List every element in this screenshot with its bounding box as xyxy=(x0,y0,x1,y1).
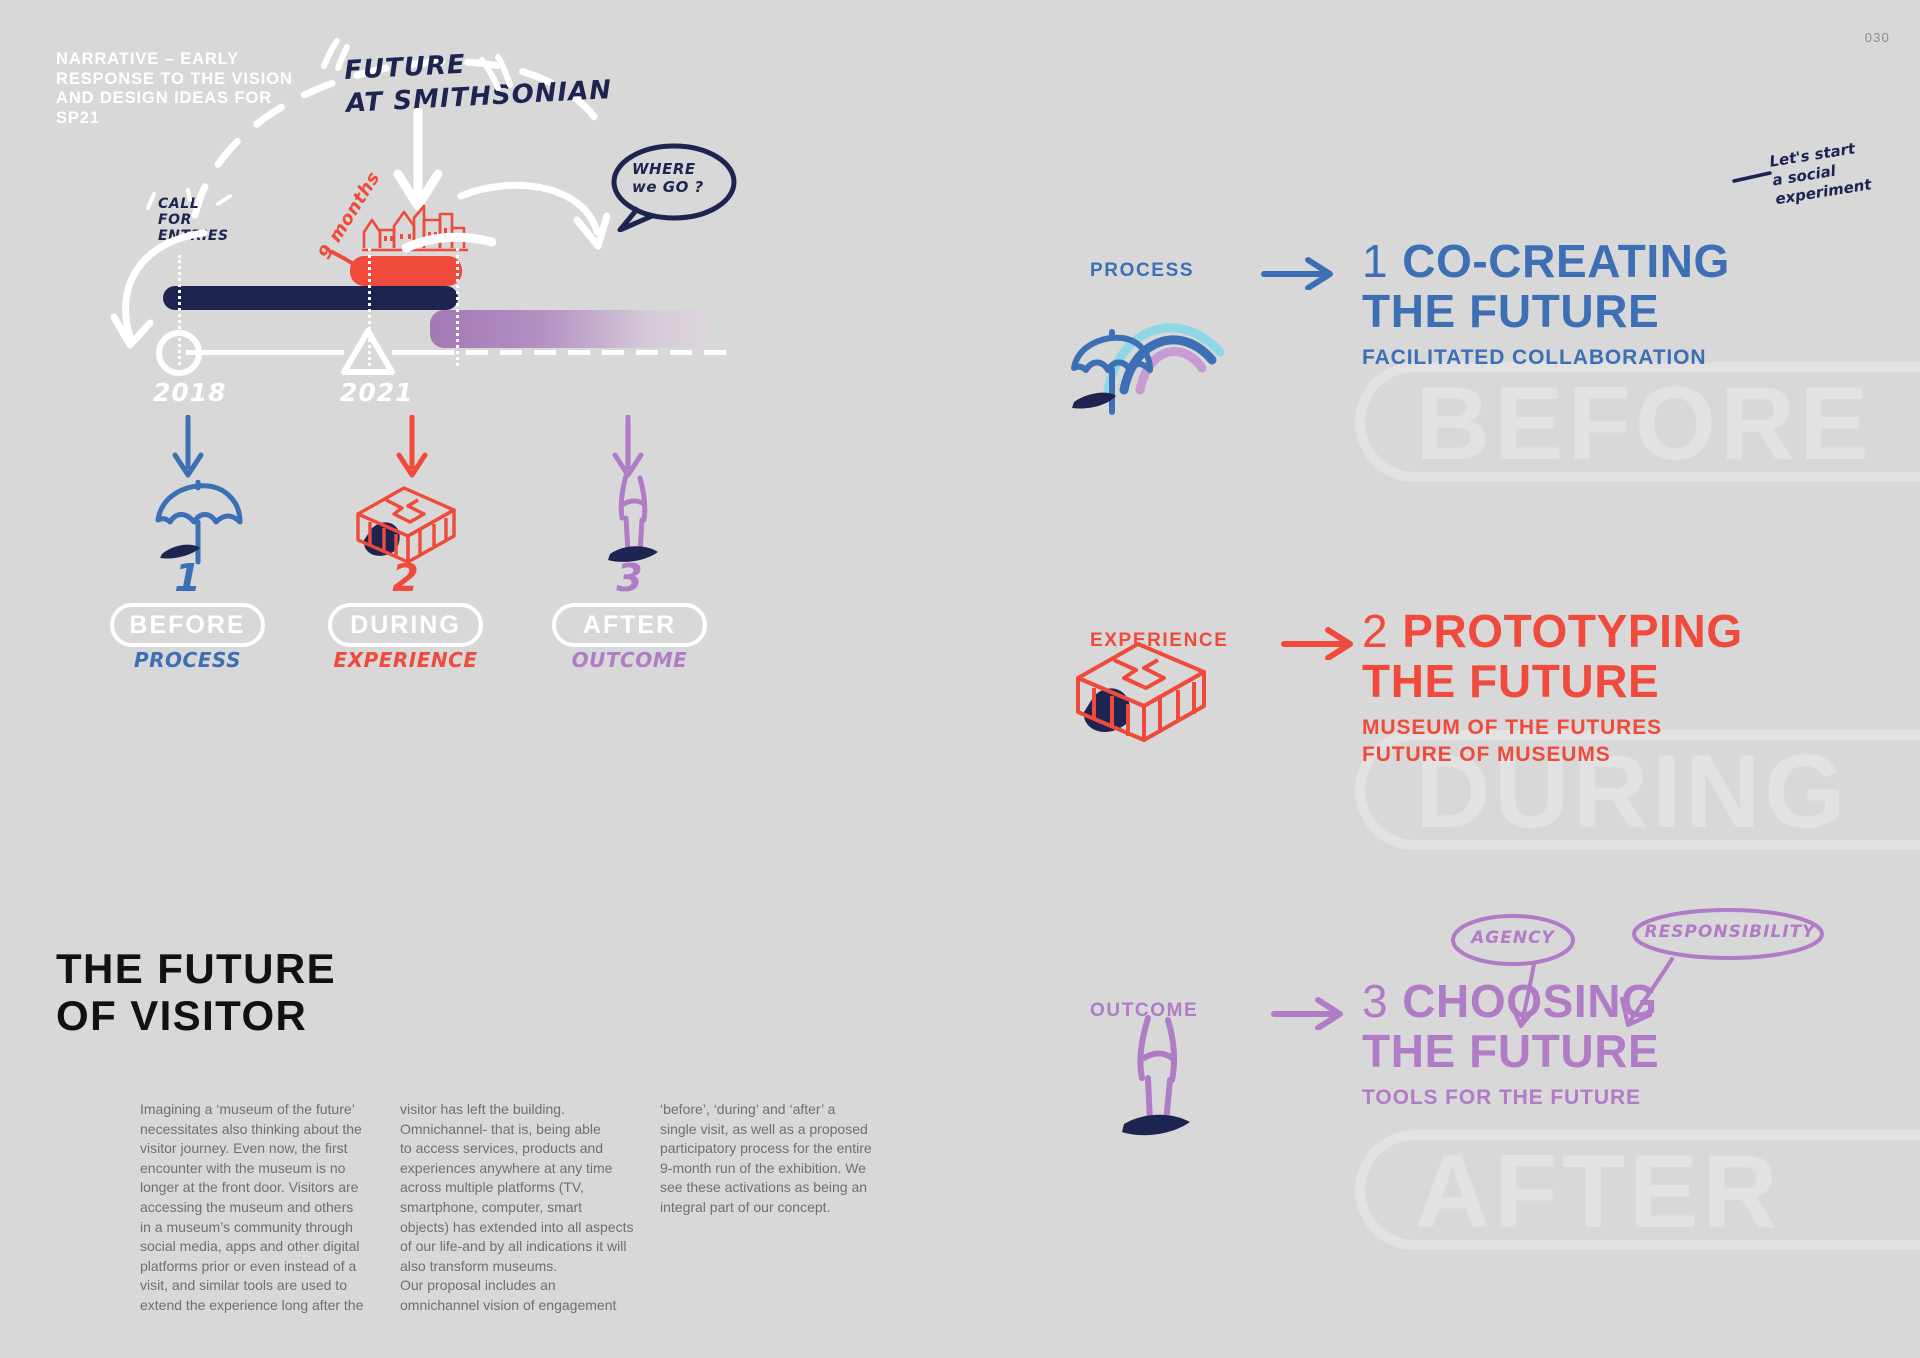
stage-arrow-before-icon xyxy=(168,415,208,485)
page-number: 030 xyxy=(1865,30,1890,45)
stage-number-1: 1 xyxy=(110,556,265,600)
axis-solid xyxy=(392,350,432,355)
body-column-2: visitor has left the building. Omnichann… xyxy=(400,1100,660,1316)
panel-number-2: 2 xyxy=(1362,605,1388,657)
ghost-text-before: BEFORE xyxy=(1415,372,1872,476)
sparkle-icon xyxy=(316,36,350,76)
stage-number-2: 2 xyxy=(328,556,483,600)
stage-arrow-during-icon xyxy=(392,415,432,485)
panel-number-1: 1 xyxy=(1362,235,1388,287)
axis-solid xyxy=(186,350,344,355)
timeline-bar-legacy xyxy=(430,310,710,348)
stage-pill-before[interactable]: BEFORE xyxy=(110,603,265,647)
note-leader-line-icon xyxy=(1730,165,1776,189)
body-column-1: Imagining a ‘museum of the future’ neces… xyxy=(140,1100,380,1316)
timeline-bar-exhibition xyxy=(350,256,462,286)
body-column-3: ‘before’, ‘during’ and ‘after’ a single … xyxy=(660,1100,900,1218)
stage-pill-after[interactable]: AFTER xyxy=(552,603,707,647)
panel-arrow-icon xyxy=(1270,996,1350,1030)
sparkle-icon xyxy=(140,186,240,222)
sparkle-icon xyxy=(476,52,516,96)
stage-sub-experience: EXPERIENCE xyxy=(328,648,483,672)
panel-number-3: 3 xyxy=(1362,975,1388,1027)
marker-2021-triangle xyxy=(340,326,396,378)
stage-sub-process: PROCESS xyxy=(110,648,265,672)
panel-arrow-icon xyxy=(1280,626,1360,660)
panel-subline-facilitated: FACILITATED COLLABORATION xyxy=(1362,344,1792,371)
umbrella-rainbow-icon xyxy=(1068,290,1268,420)
axis-dashed xyxy=(432,350,732,355)
bubble-agency-label: AGENCY xyxy=(1448,928,1578,948)
umbrella-icon xyxy=(148,480,248,565)
speech-bubble-text: WHERE we GO ? xyxy=(632,160,704,196)
hand-note-social-experiment: Let's start a social experiment xyxy=(1768,138,1873,209)
year-label-2021: 2021 xyxy=(340,378,414,407)
panel-headline-co-creating: 1CO-CREATING THE FUTURE xyxy=(1362,236,1782,336)
ghost-text-after: AFTER xyxy=(1415,1140,1782,1244)
panel-subline-tools: TOOLS FOR THE FUTURE xyxy=(1362,1084,1792,1111)
panel-arrow-icon xyxy=(1260,256,1340,290)
stage-number-3: 3 xyxy=(552,556,707,600)
brick-block-icon xyxy=(346,478,466,568)
panel-headline-prototyping: 2PROTOTYPING THE FUTURE xyxy=(1362,606,1802,706)
page-title: THE FUTURE OF VISITOR xyxy=(56,945,336,1039)
castle-shadow-icon xyxy=(402,226,496,256)
panel-subline-museum-futures: MUSEUM OF THE FUTURES FUTURE OF MUSEUMS xyxy=(1362,714,1792,768)
tick-line-end xyxy=(456,248,459,366)
panel-eyebrow-process: PROCESS xyxy=(1090,260,1194,282)
timeline-bar-preparation xyxy=(163,286,458,310)
bubble-responsibility-leader-icon xyxy=(1600,955,1690,1030)
bubble-agency-leader-icon xyxy=(1488,960,1568,1030)
stage-sub-outcome: OUTCOME xyxy=(552,648,707,672)
stage-pill-during[interactable]: DURING xyxy=(328,603,483,647)
curve-arrow-right-icon xyxy=(455,180,615,270)
person-icon xyxy=(1110,1010,1230,1150)
brick-block-icon xyxy=(1062,630,1222,750)
person-icon xyxy=(596,470,686,570)
panel-headline-text: PROTOTYPING THE FUTURE xyxy=(1362,605,1743,707)
bubble-responsibility-label: RESPONSIBILITY xyxy=(1630,922,1830,942)
year-label-2018: 2018 xyxy=(153,378,227,407)
timeline-diagram: FUTURE AT SMITHSONIAN WHERE we GO ? CALL… xyxy=(0,0,900,830)
marker-2018-circle xyxy=(156,330,202,376)
page-canvas: 030 NARRATIVE – EARLY RESPONSE TO THE VI… xyxy=(0,0,1920,1358)
panel-headline-choosing: 3CHOOSING THE FUTURE xyxy=(1362,976,1782,1076)
panel-headline-text: CO-CREATING THE FUTURE xyxy=(1362,235,1730,337)
